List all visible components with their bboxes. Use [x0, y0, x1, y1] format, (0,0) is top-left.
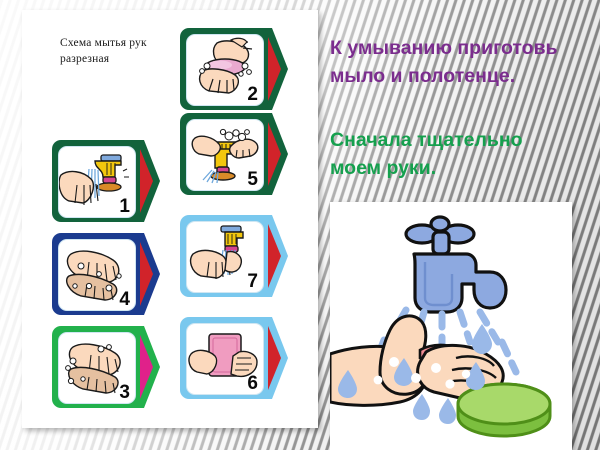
green-line-1: Сначала тщательно [330, 126, 600, 154]
scheme-card-5[interactable]: 5 [180, 113, 268, 195]
card-plate-4: 4 [52, 233, 140, 315]
card-plate-5: 5 [180, 113, 268, 195]
card-plate-3: 3 [52, 326, 140, 408]
card-plate-1: 1 [52, 140, 140, 222]
card-number-3: 3 [119, 383, 130, 402]
card-inner-1: 1 [58, 146, 136, 218]
washing-hands-under-faucet-icon [330, 202, 572, 450]
handwashing-scheme-panel: Схема мытья рук разрезная [22, 10, 318, 428]
purple-line-1: К умыванию приготовь [330, 34, 600, 62]
card-number-4: 4 [119, 290, 130, 309]
instruction-text-purple: К умыванию приготовь мыло и полотенце. [330, 34, 600, 90]
scheme-card-6[interactable]: 6 [180, 317, 268, 399]
green-line-2: моем руки. [330, 154, 600, 182]
card-inner-2: 2 [186, 34, 264, 106]
scheme-card-3[interactable]: 3 [52, 326, 140, 408]
card-inner-4: 4 [58, 239, 136, 311]
handwashing-illustration-panel [330, 202, 572, 450]
scheme-card-4[interactable]: 4 [52, 233, 140, 315]
card-inner-3: 3 [58, 332, 136, 404]
card-number-6: 6 [247, 374, 258, 393]
card-inner-7: 7 [186, 221, 264, 293]
card-number-5: 5 [247, 170, 258, 189]
scheme-card-1[interactable]: 1 [52, 140, 140, 222]
card-plate-7: 7 [180, 215, 268, 297]
card-number-7: 7 [247, 272, 258, 291]
card-plate-2: 2 [180, 28, 268, 110]
card-inner-5: 5 [186, 119, 264, 191]
card-plate-6: 6 [180, 317, 268, 399]
card-number-1: 1 [119, 197, 130, 216]
scheme-card-7[interactable]: 7 [180, 215, 268, 297]
card-inner-6: 6 [186, 323, 264, 395]
scheme-card-2[interactable]: 2 [180, 28, 268, 110]
purple-line-2: мыло и полотенце. [330, 62, 600, 90]
instruction-text-green: Сначала тщательно моем руки. [330, 126, 600, 182]
card-number-2: 2 [247, 85, 258, 104]
